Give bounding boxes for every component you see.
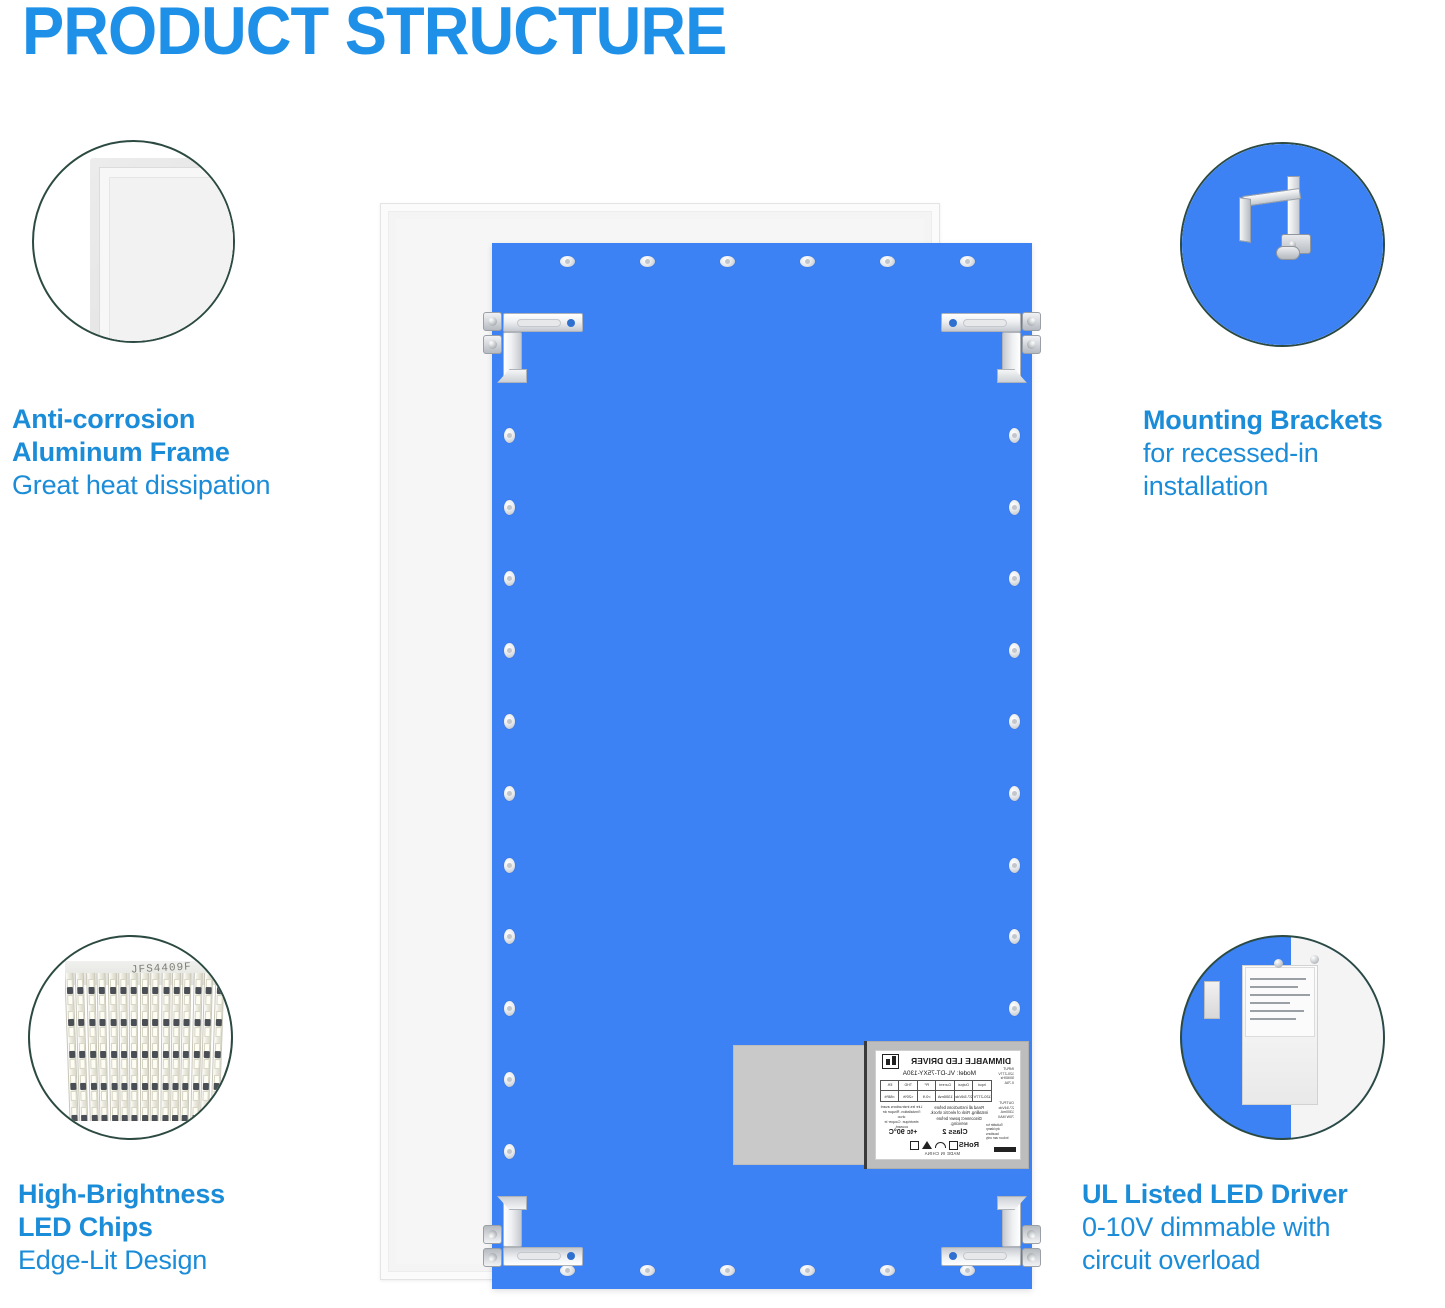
led-resistor [91,1083,97,1090]
cert-mark-triangle-icon [922,1141,932,1149]
led-resistor [173,1019,179,1026]
callout-regular-line: installation [1143,470,1445,503]
led-resistor [162,1083,168,1090]
panel-screw [880,256,895,267]
callout-led-chips: JFS4409F High-Brightness LED Chips Edge-… [28,935,233,1140]
driver-spec-table: Input120-277VOutput27-54VdcCurrent1300mA… [880,1080,992,1102]
led-chip [100,1059,106,1069]
callout-bubble-mounting-brackets [1180,142,1385,347]
led-chip [216,995,222,1005]
callout-bubble-anti-corrosion [32,140,235,343]
callout-anti-corrosion: Anti-corrosion Aluminum Frame Great heat… [12,140,235,343]
led-resistor [215,1019,221,1026]
panel-screw [560,256,575,267]
bracket-screw-lower [483,1225,502,1244]
led-strip [107,973,118,1121]
led-strip [150,973,160,1121]
led-chip [68,1027,74,1037]
led-resistor [173,1051,179,1058]
led-resistor [163,987,169,994]
driver-label-barcode [994,1147,1016,1152]
led-resistor [182,1115,188,1121]
panel-screw [960,1265,975,1276]
panel-screw [1009,1001,1020,1016]
led-strip [118,973,129,1121]
led-resistor [162,1115,168,1121]
led-chip [152,995,158,1005]
led-chip [184,995,190,1005]
spec-table-cell: 1300mA [937,1091,955,1102]
led-chip [172,1091,178,1101]
led-chip [182,1091,188,1101]
bracket-vertical-arm [1287,176,1300,240]
corner-bracket-top-right [941,313,1027,383]
panel-screw [1009,858,1020,873]
led-resistor [132,1115,138,1121]
led-chip [90,1059,96,1069]
panel-screw [640,256,655,267]
bracket-base-plate [1276,246,1300,260]
bracket-screw-upper [483,1248,502,1267]
led-chip [213,1091,219,1101]
panel-screw [720,256,735,267]
driver-label-title: DIMMABLE LED DRIVER [911,1056,1011,1066]
led-chip [100,1027,106,1037]
led-resistor [192,1115,198,1121]
callout-led-driver: UL Listed LED Driver 0-10V dimmable with… [1180,935,1385,1140]
led-resistor [174,987,180,994]
panel-screw [560,1265,575,1276]
led-chip [111,1091,117,1101]
led-chip [121,1027,127,1037]
led-resistor [142,1115,148,1121]
spec-table-cell: <20% [900,1091,918,1102]
led-resistor [122,1115,128,1121]
spec-table-column: Output27-54Vdc [954,1081,973,1101]
bracket-screw-upper [483,312,502,331]
led-resistor [195,987,201,994]
led-resistor [99,987,105,994]
led-resistor [91,1115,97,1121]
led-resistor [88,987,94,994]
led-chip [184,1027,190,1037]
led-resistor [80,1083,86,1090]
panel-screw [504,500,515,515]
led-resistor [142,1083,148,1090]
panel-screw [504,1144,515,1159]
corner-bracket-top-left [497,313,583,383]
led-chip [173,1027,179,1037]
led-chip [152,1059,158,1069]
led-chip [215,1027,221,1037]
led-resistor [100,1019,106,1026]
callout-bold-line: Anti-corrosion [12,403,372,436]
panel-screw [504,428,515,443]
callout-bold-line: Mounting Brackets [1143,404,1445,437]
junction-box-divider [864,1041,867,1169]
led-resistor [131,1051,137,1058]
led-resistor [120,987,126,994]
bracket-pivot-dot [949,1252,957,1260]
led-strip-icon: JFS4409F [65,961,225,1121]
driver-label-output-block: OUTPUT 27-54Vdc 1300mA 70W MAX [994,1101,1014,1119]
led-resistor [68,1019,74,1026]
led-resistor [142,1051,148,1058]
led-chip [80,1059,86,1069]
driver-mount-tab [1204,981,1220,1019]
led-chip [131,1027,137,1037]
led-resistor [172,1115,178,1121]
led-chip [131,1059,137,1069]
bracket-screw-lower [1022,335,1041,354]
led-resistor [67,987,73,994]
panel-screw [504,786,515,801]
spec-table-header: Input [974,1081,992,1091]
panel-screw [1009,786,1020,801]
driver-label-warning-en: Read all instructions before installing.… [928,1105,990,1127]
panel-screw [504,643,515,658]
led-chip [183,1059,189,1069]
led-strip [97,973,109,1121]
callout-caption-led-chips: High-Brightness LED Chips Edge-Lit Desig… [18,1178,358,1277]
bracket-screw-upper [1022,312,1041,331]
driver-screw [1310,955,1319,964]
callout-regular-line: circuit overload [1082,1244,1445,1277]
callout-mounting-brackets: Mounting Brackets for recessed-in instal… [1180,142,1385,347]
led-chip [89,1027,95,1037]
spec-table-column: Current1300mA [936,1081,955,1101]
panel-screw [800,1265,815,1276]
panel-screw [720,1265,735,1276]
led-chip [193,1059,199,1069]
led-chip [78,995,84,1005]
panel-screw [1009,500,1020,515]
led-chip [81,1091,87,1101]
spec-table-column: Input120-277V [973,1081,992,1101]
driver-label-origin: MADE IN CHINA [924,1151,960,1156]
spec-table-header: PF [918,1081,936,1091]
aluminum-frame-corner-icon [90,158,235,343]
led-chip [162,1059,168,1069]
junction-box: DIMMABLE LED DRIVER Model: VL-DT-75XY-13… [733,1041,1029,1169]
bracket-screw-lower [483,335,502,354]
spec-table-header: Output [955,1081,973,1091]
led-resistor [183,1051,189,1058]
manufacturer-logo-icon [882,1054,899,1069]
callout-caption-anti-corrosion: Anti-corrosion Aluminum Frame Great heat… [12,403,372,502]
led-resistor [216,987,222,994]
led-resistor [193,1083,199,1090]
led-strip [129,973,139,1121]
bracket-pivot-dot [949,319,957,327]
callout-regular-line: 0-10V dimmable with [1082,1211,1445,1244]
callout-regular-line: Great heat dissipation [12,469,372,502]
led-resistor [111,1083,117,1090]
bracket-foot [497,369,527,383]
spec-table-column: THD<20% [899,1081,918,1101]
led-resistor [204,1051,210,1058]
led-chip [214,1059,220,1069]
spec-table-header: THD [900,1081,918,1091]
panel-screw [1009,643,1020,658]
led-chip [163,995,169,1005]
led-resistor [70,1083,76,1090]
led-chip [142,1091,148,1101]
spec-table-cell: >0.9 [918,1091,936,1102]
led-resistor [205,1019,211,1026]
led-resistor [184,987,190,994]
led-chip [142,1059,148,1069]
panel-screw [800,256,815,267]
led-resistor [90,1051,96,1058]
led-chip [203,1091,209,1101]
bracket-screw-lower [1022,1225,1041,1244]
led-resistor [110,1019,116,1026]
panel-screw [504,858,515,873]
led-chip [110,995,116,1005]
bracket-slot [517,319,561,327]
driver-label-rohs: RoHS [959,1140,979,1149]
callout-caption-led-driver: UL Listed LED Driver 0-10V dimmable with… [1082,1178,1445,1277]
cert-mark-square-icon [949,1141,958,1150]
led-chip [204,1059,210,1069]
led-resistor [102,1115,108,1121]
frame-inner-face [109,177,235,343]
led-chip [79,1027,85,1037]
led-chip [194,1027,200,1037]
panel-screw [880,1265,895,1276]
driver-label-input-block: INPUT 120-277V 50/60Hz 0.75A [994,1067,1014,1085]
led-chip [205,995,211,1005]
led-chip [142,1027,148,1037]
spec-table-cell: >88% [881,1091,899,1102]
led-resistor [214,1051,220,1058]
bracket-foot [497,1196,527,1210]
led-resistor [202,1115,208,1121]
led-chip [152,1027,158,1037]
led-resistor [131,1019,137,1026]
cert-mark-arc-icon [935,1142,946,1148]
led-chip [69,1059,75,1069]
led-resistor [112,1115,118,1121]
corner-bracket-bottom-left [497,1196,583,1266]
led-resistor [206,987,212,994]
junction-box-cover [733,1045,865,1165]
led-chip [163,1027,169,1037]
callout-bold-line: Aluminum Frame [12,436,372,469]
led-resistor [78,987,84,994]
bracket-diagonal-arm [1239,197,1251,243]
led-chip [121,1091,127,1101]
led-resistor [152,1051,158,1058]
led-resistor [132,1083,138,1090]
led-chip [142,995,148,1005]
led-resistor [101,1083,107,1090]
callout-bubble-led-chips: JFS4409F [28,935,233,1140]
led-resistor [121,1083,127,1090]
spec-table-header: Eff. [881,1081,899,1091]
driver-screw [1274,959,1283,968]
bracket-screw-upper [1022,1248,1041,1267]
led-chip [132,1091,138,1101]
led-chip [99,995,105,1005]
led-chip [121,1059,127,1069]
spec-table-column: PF>0.9 [917,1081,936,1101]
bracket-foot [997,1196,1027,1210]
panel-screw [960,256,975,267]
led-chip [205,1027,211,1037]
led-resistor [152,1083,158,1090]
led-chip [162,1091,168,1101]
callout-bold-line: LED Chips [18,1211,358,1244]
led-resistor [152,987,158,994]
led-resistor [172,1083,178,1090]
led-resistor [142,987,148,994]
bracket-slot [963,1252,1007,1260]
corner-bracket-bottom-right [941,1196,1027,1266]
led-chip [131,995,137,1005]
led-strip [160,973,170,1121]
led-resistor [79,1019,85,1026]
led-resistor [131,987,137,994]
led-chip [110,1027,116,1037]
led-resistor [212,1115,218,1121]
led-resistor [100,1051,106,1058]
led-resistor [110,987,116,994]
bracket-slot [517,1252,561,1260]
led-resistor [194,1019,200,1026]
led-resistor [142,1019,148,1026]
callout-regular-line: for recessed-in [1143,437,1445,470]
led-chip [71,1091,77,1101]
led-resistor [184,1019,190,1026]
bracket-pivot-dot [567,319,575,327]
bracket-slot [963,319,1007,327]
led-resistor [194,1051,200,1058]
led-chip [120,995,126,1005]
spec-table-column: Eff.>88% [881,1081,899,1101]
driver-label-temperature: +tc 90°C [882,1127,924,1136]
driver-label-class: Class 2 [934,1127,976,1136]
led-resistor [121,1019,127,1026]
led-chip [111,1059,117,1069]
mounting-bracket-icon [1237,176,1333,262]
certification-marks-group [892,1139,958,1151]
spec-table-header: Current [937,1081,955,1091]
driver-spec-label: DIMMABLE LED DRIVER Model: VL-DT-75XY-13… [875,1050,1021,1160]
panel-screw [504,1001,515,1016]
led-resistor [69,1051,75,1058]
led-resistor [203,1083,209,1090]
led-resistor [163,1051,169,1058]
led-resistor [152,1115,158,1121]
led-resistor [163,1019,169,1026]
panel-screw [640,1265,655,1276]
led-resistor [213,1083,219,1090]
callout-bubble-led-driver [1180,935,1385,1140]
driver-label-model: Model: VL-DT-75XY-130A [903,1070,976,1077]
led-resistor [89,1019,95,1026]
callout-bold-line: High-Brightness [18,1178,358,1211]
bracket-foot [997,369,1027,383]
led-resistor [81,1115,87,1121]
led-driver-label-icon [1245,967,1315,1037]
led-chip [174,995,180,1005]
led-resistor [183,1083,189,1090]
led-resistor [152,1019,158,1026]
led-resistor [111,1051,117,1058]
led-chip [195,995,201,1005]
led-resistor [71,1115,77,1121]
led-chip [193,1091,199,1101]
led-strip [140,973,149,1121]
led-chip [67,995,73,1005]
bracket-pivot-dot [567,1252,575,1260]
spec-table-cell: 120-277V [974,1091,992,1102]
driver-label-footer: Suitable for dry/damp locations Indoor u… [986,1123,1016,1140]
led-chip [152,1091,158,1101]
callout-caption-mounting-brackets: Mounting Brackets for recessed-in instal… [1143,404,1445,503]
panel-screw [1009,428,1020,443]
led-chip [88,995,94,1005]
callout-regular-line: Edge-Lit Design [18,1244,358,1277]
led-chip [101,1091,107,1101]
spec-table-cell: 27-54Vdc [955,1091,973,1102]
led-chip [173,1059,179,1069]
led-chip [91,1091,97,1101]
led-resistor [79,1051,85,1058]
led-resistor [121,1051,127,1058]
callout-bold-line: UL Listed LED Driver [1082,1178,1445,1211]
infographic-canvas: PRODUCT STRUCTURE [0,0,1445,1308]
cert-mark-box-icon [910,1141,919,1150]
